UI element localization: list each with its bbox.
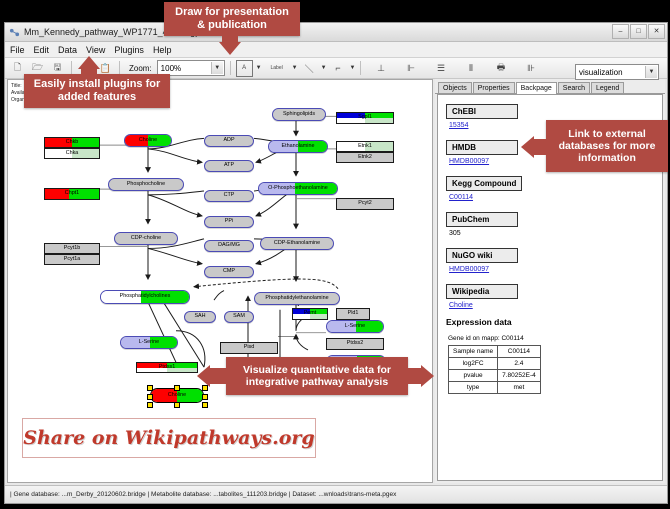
- gene-pisd[interactable]: Pisd: [220, 342, 278, 354]
- node-sam[interactable]: SAM: [224, 311, 254, 323]
- expression-data-heading: Expression data: [446, 317, 654, 327]
- node-sphingolipids[interactable]: Sphingolipids: [272, 108, 326, 121]
- gene-chkb[interactable]: Chkb: [44, 137, 100, 148]
- node-atp[interactable]: ATP: [204, 160, 254, 172]
- gene-chka[interactable]: Chka: [44, 148, 100, 159]
- cell-key: Sample name: [449, 346, 498, 358]
- annotation-quant-arrow-left: [197, 365, 210, 387]
- cell-key: pvalue: [449, 370, 498, 382]
- annotation-draw-for-publication: Draw for presentation & publication: [164, 2, 300, 36]
- selection-handle-e[interactable]: [202, 394, 208, 400]
- cell-value: 2.4: [498, 358, 541, 370]
- annotation-plugins-arrow: [78, 56, 100, 69]
- annotation-links-stem: [534, 139, 548, 155]
- cell-value: C00114: [498, 346, 541, 358]
- menubar: File Edit Data View Plugins Help: [5, 42, 667, 58]
- statusbar: | Gene database: ...m_Derby_20120602.bri…: [5, 485, 667, 503]
- chevron-down-icon[interactable]: ▼: [211, 62, 223, 74]
- db-title-pubchem: PubChem: [446, 212, 518, 227]
- annotation-links-arrow: [521, 136, 534, 158]
- line-tool[interactable]: ＼: [301, 60, 318, 77]
- node-cdp-choline[interactable]: CDP-choline: [114, 232, 178, 245]
- cell-value: met: [498, 382, 541, 394]
- selection-handle-se[interactable]: [202, 402, 208, 408]
- line-tool-dropdown[interactable]: ▼: [321, 65, 327, 71]
- shape-tool[interactable]: ⌐: [330, 60, 347, 77]
- gene-pcyt1a[interactable]: Pcyt1a: [44, 254, 100, 265]
- tab-search[interactable]: Search: [558, 82, 590, 93]
- gene-chpt1[interactable]: Chpt1: [44, 188, 100, 200]
- close-button[interactable]: ✕: [648, 24, 665, 39]
- menu-edit[interactable]: Edit: [34, 45, 50, 55]
- expression-table: Sample name C00114 log2FC 2.4 pvalue 7.8…: [448, 345, 541, 394]
- side-panel-tabs: Objects Properties Backpage Search Legen…: [435, 79, 665, 94]
- db-link-nugo-wiki[interactable]: HMDB00097: [449, 266, 654, 273]
- align-left-icon[interactable]: ⊩: [402, 60, 419, 77]
- zoom-value: 100%: [161, 64, 181, 73]
- tab-properties[interactable]: Properties: [473, 82, 515, 93]
- statusbar-text: | Gene database: ...m_Derby_20120602.bri…: [10, 491, 396, 498]
- table-row: pvalue 7.80252E-4: [449, 370, 541, 382]
- distribute-icon[interactable]: ☰: [432, 60, 449, 77]
- menu-plugins[interactable]: Plugins: [114, 45, 144, 55]
- node-l-serine-left[interactable]: L-Serine: [120, 336, 178, 349]
- node-phosphatidylcholines[interactable]: Phosphatidylcholines: [100, 290, 190, 304]
- annotation-quant-arrow-right: [421, 365, 434, 387]
- db-title-chebi: ChEBI: [446, 104, 518, 119]
- node-ppi[interactable]: PPi: [204, 216, 254, 228]
- node-cdp-ethanolamine[interactable]: CDP-Ethanolamine: [260, 237, 334, 250]
- node-l-serine-right[interactable]: L-Serine: [326, 320, 384, 333]
- node-o-phosphoethanolamine[interactable]: O-Phosphoethanolamine: [258, 182, 338, 195]
- gene-pemt[interactable]: Pemt: [292, 308, 328, 320]
- text-tool[interactable]: A: [236, 60, 253, 77]
- gene-sgpl1[interactable]: Sgpl1: [336, 112, 394, 124]
- menu-file[interactable]: File: [10, 45, 25, 55]
- tab-objects[interactable]: Objects: [438, 82, 472, 93]
- gene-pld1[interactable]: Pld1: [336, 308, 370, 320]
- node-ctp[interactable]: CTP: [204, 190, 254, 202]
- gene-etnk1[interactable]: Etnk1: [336, 141, 394, 152]
- db-title-kegg-compound: Kegg Compound: [446, 176, 522, 191]
- label-tool[interactable]: Label: [265, 60, 289, 77]
- db-link-wikipedia[interactable]: Choline: [449, 302, 654, 309]
- node-phosphatidylethanolamine[interactable]: Phosphatidylethanolamine: [254, 292, 340, 305]
- selection-handle-w[interactable]: [147, 394, 153, 400]
- selection-handle-s[interactable]: [174, 402, 180, 408]
- db-title-nugo-wiki: NuGO wiki: [446, 248, 518, 263]
- window-buttons: – □ ✕: [612, 24, 665, 39]
- screenshot-root: Mm_Kennedy_pathway_WP1771_45176.gpml – □…: [0, 0, 670, 509]
- table-row: Sample name C00114: [449, 346, 541, 358]
- text-tool-dropdown[interactable]: ▼: [256, 65, 262, 71]
- pathvisio-icon: [9, 27, 20, 38]
- table-row: type met: [449, 382, 541, 394]
- menu-data[interactable]: Data: [58, 45, 77, 55]
- menu-view[interactable]: View: [86, 45, 105, 55]
- node-ethanolamine[interactable]: Ethanolamine: [268, 140, 328, 153]
- node-dag-mg[interactable]: DAG/MG: [204, 240, 254, 252]
- window-titlebar: Mm_Kennedy_pathway_WP1771_45176.gpml – □…: [5, 23, 667, 42]
- gene-etnk2[interactable]: Etnk2: [336, 152, 394, 163]
- toolbar-separator-4: [360, 61, 361, 75]
- annotation-visualize-data: Visualize quantitative data for integrat…: [226, 357, 408, 395]
- annotation-share-wikipathways: Share on Wikipathways.org: [22, 418, 316, 458]
- annotation-quant-stem-left: [210, 368, 228, 384]
- db-title-wikipedia: Wikipedia: [446, 284, 518, 299]
- share-text: Share on Wikipathways.org: [23, 427, 314, 449]
- toolbar-separator-2: [119, 61, 120, 75]
- annotation-install-plugins: Easily install plugins for added feature…: [24, 74, 170, 108]
- maximize-button[interactable]: □: [630, 24, 647, 39]
- db-link-kegg-compound[interactable]: C00114: [449, 194, 654, 201]
- stack-icon[interactable]: ⦀: [462, 60, 479, 77]
- db-value-pubchem: 305: [449, 230, 654, 237]
- cell-key: type: [449, 382, 498, 394]
- toolbar-separator-1: [71, 61, 72, 75]
- layout-icon[interactable]: ⊪: [522, 60, 539, 77]
- gene-id-label: Gene id on mapp: C00114: [448, 335, 654, 342]
- label-tool-dropdown[interactable]: ▼: [292, 65, 298, 71]
- minimize-button[interactable]: –: [612, 24, 629, 39]
- annotation-draw-arrow: [219, 42, 241, 55]
- gene-ptdss2[interactable]: Ptdss2: [326, 338, 384, 350]
- node-cmp[interactable]: CMP: [204, 266, 254, 278]
- toolbar-separator-3: [230, 61, 231, 75]
- node-phosphocholine[interactable]: Phosphocholine: [108, 178, 184, 191]
- node-choline-top[interactable]: Choline: [124, 134, 172, 147]
- visualization-combobox[interactable]: visualization ▼: [575, 64, 659, 80]
- menu-help[interactable]: Help: [153, 45, 172, 55]
- tab-legend[interactable]: Legend: [591, 82, 624, 93]
- print-icon[interactable]: 🖶: [492, 60, 509, 77]
- gene-pcyt2[interactable]: Pcyt2: [336, 198, 394, 210]
- visualization-value: visualization: [579, 68, 623, 77]
- zoom-label: Zoom:: [129, 64, 152, 73]
- chevron-down-icon[interactable]: ▼: [645, 66, 657, 78]
- align-bottom-icon[interactable]: ⊥: [372, 60, 389, 77]
- node-adp[interactable]: ADP: [204, 135, 254, 147]
- db-title-hmdb: HMDB: [446, 140, 518, 155]
- cell-key: log2FC: [449, 358, 498, 370]
- gene-ptdss1[interactable]: Ptdss1: [136, 362, 198, 373]
- tab-backpage[interactable]: Backpage: [516, 82, 557, 94]
- shape-tool-dropdown[interactable]: ▼: [350, 65, 356, 71]
- annotation-external-links: Link to external databases for more info…: [546, 120, 668, 172]
- cell-value: 7.80252E-4: [498, 370, 541, 382]
- node-sah[interactable]: SAH: [184, 311, 216, 323]
- table-row: log2FC 2.4: [449, 358, 541, 370]
- selection-handle-sw[interactable]: [147, 402, 153, 408]
- gene-pcyt1b[interactable]: Pcyt1b: [44, 243, 100, 254]
- selection-handle-nw[interactable]: [147, 385, 153, 391]
- selection-handle-n[interactable]: [174, 385, 180, 391]
